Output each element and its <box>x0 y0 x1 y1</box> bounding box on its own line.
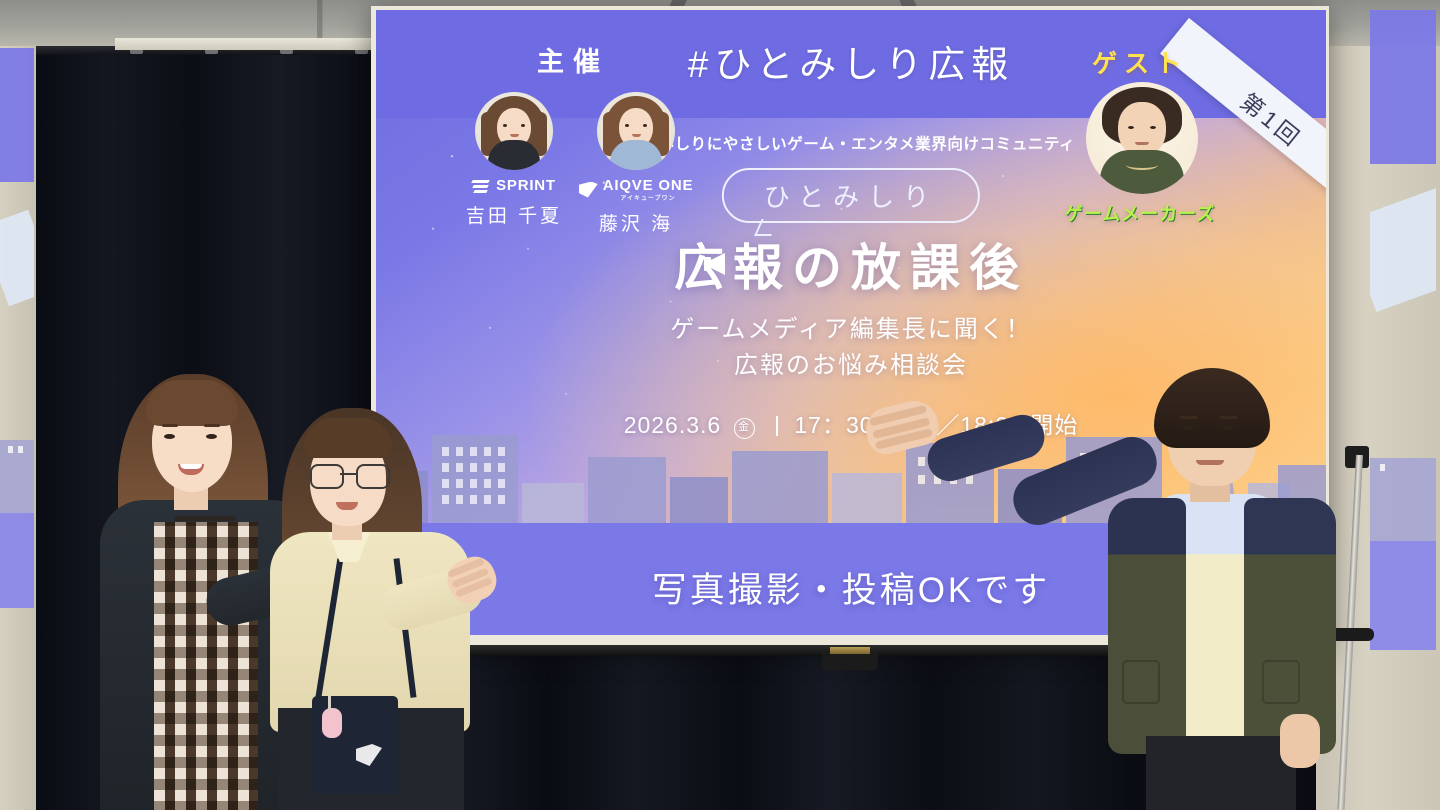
spill-band-bottom <box>1370 541 1436 650</box>
cardigan-pocket <box>1122 660 1160 704</box>
megaphone-icon <box>703 253 725 275</box>
spill-window <box>8 446 13 453</box>
building <box>832 473 902 523</box>
building <box>732 451 828 523</box>
cardigan-pocket <box>1262 660 1300 704</box>
slide-main-title: 広報の放課後 <box>376 228 1326 300</box>
host-company-1: SPRINT <box>458 177 570 194</box>
spill-city <box>1370 458 1436 541</box>
avatar <box>597 92 675 170</box>
spill-band-bottom <box>0 513 34 608</box>
event-weekday: 金 <box>734 418 755 439</box>
host-name-1: 吉田 千夏 <box>458 201 570 228</box>
bag-charm <box>322 708 342 738</box>
tagline-line-2: 広報のお悩み相談会 <box>734 352 968 379</box>
host-company-label-2: AIQVE ONE アイキューブワン <box>603 177 694 202</box>
spill-band-top <box>0 48 34 182</box>
host-company-label-1: SPRINT <box>496 177 556 194</box>
event-photo-scene: 第1回 #ひとみしり広報 ひとみしりにやさしいゲーム・エンタメ業界向けコミュニテ… <box>0 0 1440 810</box>
host-company-2: AIQVE ONE アイキューブワン <box>572 177 700 202</box>
spill-window <box>18 446 23 453</box>
spill-city <box>0 440 34 513</box>
tagline-line-1: ゲームメディア編集長に聞く！ <box>670 316 1032 343</box>
guest-media-logo: ゲームメーカーズ <box>1050 200 1230 226</box>
projection-spill-right <box>1370 10 1436 650</box>
host-person-1: SPRINT 吉田 千夏 <box>458 92 570 228</box>
spill-diagonal-ribbon <box>0 210 34 306</box>
presenter-right-pants <box>1146 736 1296 810</box>
presenter-center-bangs <box>304 418 392 458</box>
avatar <box>475 92 553 170</box>
spill-window <box>1380 464 1385 471</box>
presenter-right-cardigan-left <box>1108 498 1186 754</box>
guest-face <box>1118 102 1166 156</box>
host-company-sub-2: アイキューブワン <box>603 193 694 202</box>
sprint-logo-icon <box>472 178 491 194</box>
spill-gradient <box>0 48 34 608</box>
building <box>670 477 728 523</box>
spill-diagonal-ribbon <box>1370 188 1436 312</box>
avatar-body <box>488 140 540 170</box>
projection-spill-left <box>0 48 34 608</box>
hosts-heading: 主催 <box>458 40 688 79</box>
datetime-separator <box>776 416 778 436</box>
guest-heading: ゲスト <box>1050 44 1230 80</box>
screen-weight-handle <box>822 652 878 670</box>
guest-avatar <box>1086 82 1198 194</box>
event-date: 2026.3.6 <box>624 412 722 438</box>
guest-necklace <box>1126 160 1158 170</box>
avatar-body <box>610 140 662 170</box>
spill-gradient <box>1370 10 1436 650</box>
presenter-right <box>1102 368 1370 810</box>
building <box>522 483 584 523</box>
building <box>588 457 666 523</box>
title-speech-bubble: ひとみしり <box>722 168 980 223</box>
presenter-right-hand <box>1280 714 1320 768</box>
guest-body <box>1100 150 1184 194</box>
glasses-icon <box>310 464 386 486</box>
presenter-center <box>252 408 492 810</box>
presenter-left-bangs <box>146 380 238 426</box>
presenter-left-dress <box>154 522 258 810</box>
presenter-right-hair <box>1154 368 1270 448</box>
aiqve-one-logo-icon <box>579 182 598 198</box>
host-person-2: AIQVE ONE アイキューブワン 藤沢 海 <box>572 92 700 236</box>
spill-band-top <box>1370 10 1436 164</box>
